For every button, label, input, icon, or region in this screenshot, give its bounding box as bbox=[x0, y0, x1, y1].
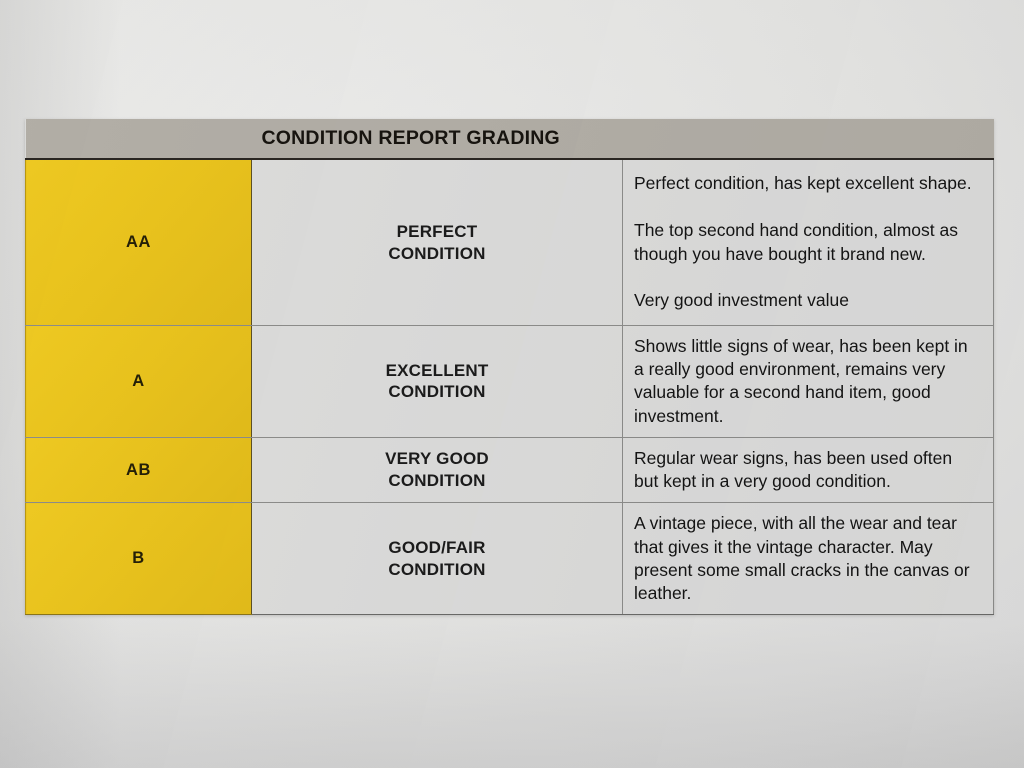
condition-label-aa: PERFECT CONDITION bbox=[252, 159, 623, 325]
condition-label-ab: VERY GOOD CONDITION bbox=[252, 437, 623, 503]
condition-line-2: CONDITION bbox=[388, 560, 485, 579]
table-row: AA PERFECT CONDITION Perfect condition, … bbox=[26, 159, 994, 325]
condition-line-1: GOOD/FAIR bbox=[388, 538, 485, 557]
condition-line-1: EXCELLENT bbox=[386, 361, 489, 380]
grade-cell-b: B bbox=[26, 503, 252, 615]
condition-line-2: CONDITION bbox=[388, 244, 485, 263]
description-paragraph: Shows little signs of wear, has been kep… bbox=[634, 335, 981, 428]
description-paragraph: Perfect condition, has kept excellent sh… bbox=[634, 172, 981, 195]
description-paragraph: Regular wear signs, has been used often … bbox=[634, 447, 981, 494]
condition-line-2: CONDITION bbox=[388, 382, 485, 401]
description-paragraph: A vintage piece, with all the wear and t… bbox=[634, 512, 981, 605]
description-cell-a: Shows little signs of wear, has been kep… bbox=[623, 325, 994, 437]
table-title-row: CONDITION REPORT GRADING bbox=[26, 119, 994, 159]
description-paragraph: Very good investment value bbox=[634, 289, 981, 312]
table-body: AA PERFECT CONDITION Perfect condition, … bbox=[26, 159, 994, 614]
grade-cell-aa: AA bbox=[26, 159, 252, 325]
grade-cell-ab: AB bbox=[26, 437, 252, 503]
condition-label-a: EXCELLENT CONDITION bbox=[252, 325, 623, 437]
condition-line-2: CONDITION bbox=[388, 471, 485, 490]
condition-report-grading-table: CONDITION REPORT GRADING AA PERFECT COND… bbox=[25, 119, 994, 615]
grade-cell-a: A bbox=[26, 325, 252, 437]
condition-label-b: GOOD/FAIR CONDITION bbox=[252, 503, 623, 615]
description-cell-aa: Perfect condition, has kept excellent sh… bbox=[623, 159, 994, 325]
table-row: A EXCELLENT CONDITION Shows little signs… bbox=[26, 325, 994, 437]
page-title: CONDITION REPORT GRADING bbox=[252, 128, 994, 149]
table-row: B GOOD/FAIR CONDITION A vintage piece, w… bbox=[26, 503, 994, 615]
table-row: AB VERY GOOD CONDITION Regular wear sign… bbox=[26, 437, 994, 503]
condition-line-1: VERY GOOD bbox=[385, 449, 489, 468]
title-spacer-cell bbox=[26, 119, 252, 159]
description-cell-ab: Regular wear signs, has been used often … bbox=[623, 437, 994, 503]
table-title-cell: CONDITION REPORT GRADING bbox=[252, 119, 994, 159]
condition-line-1: PERFECT bbox=[397, 222, 478, 241]
description-paragraph: The top second hand condition, almost as… bbox=[634, 219, 981, 266]
description-cell-b: A vintage piece, with all the wear and t… bbox=[623, 503, 994, 615]
